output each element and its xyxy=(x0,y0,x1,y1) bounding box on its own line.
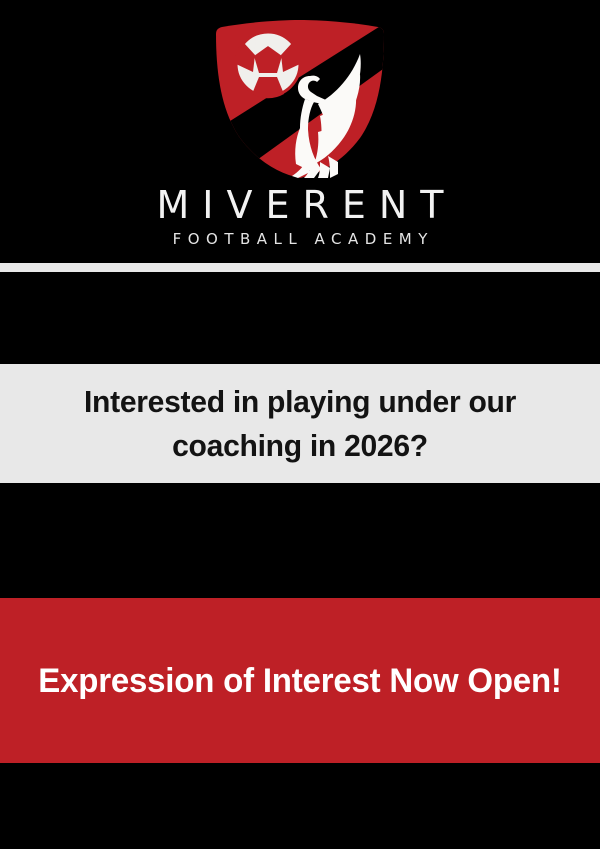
headline-text: Interested in playing under our coaching… xyxy=(9,380,591,468)
cta-text: Expression of Interest Now Open! xyxy=(9,655,591,707)
soccer-ball-icon xyxy=(236,32,300,98)
divider-strip xyxy=(0,263,600,272)
brand-wordmark: MIVERENT xyxy=(0,186,600,224)
spacer-upper xyxy=(0,272,600,364)
cta-band: Expression of Interest Now Open! xyxy=(0,598,600,763)
brand-tagline: FOOTBALL ACADEMY xyxy=(0,230,600,248)
logo-block: MIVERENT FOOTBALL ACADEMY xyxy=(0,0,600,263)
shield-crest-soccer-ball-phoenix-icon xyxy=(210,20,390,178)
promo-poster: MIVERENT FOOTBALL ACADEMY Interested in … xyxy=(0,0,600,849)
footer-area xyxy=(0,763,600,849)
spacer-lower xyxy=(0,483,600,598)
headline-band: Interested in playing under our coaching… xyxy=(0,364,600,483)
